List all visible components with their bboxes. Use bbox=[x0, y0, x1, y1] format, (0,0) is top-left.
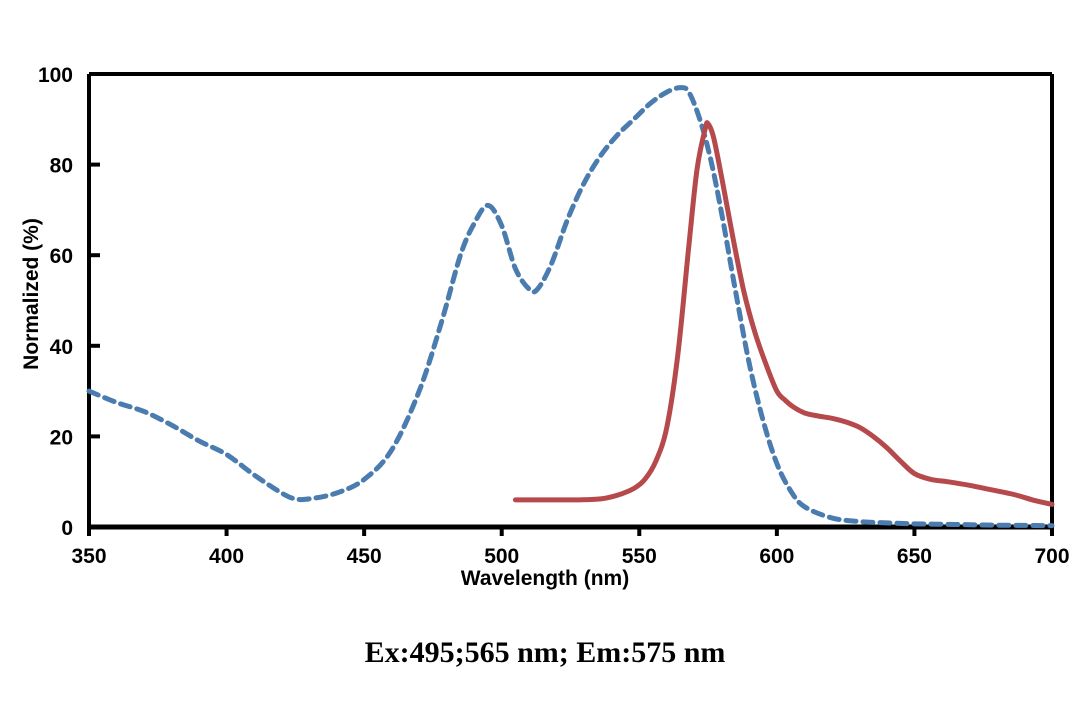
svg-text:60: 60 bbox=[50, 245, 73, 268]
svg-text:450: 450 bbox=[347, 545, 382, 568]
y-axis-title: Normalized (%) bbox=[20, 184, 44, 404]
figure-caption: Ex:495;565 nm; Em:575 nm bbox=[0, 636, 1090, 670]
svg-text:0: 0 bbox=[61, 517, 73, 540]
svg-text:400: 400 bbox=[209, 545, 244, 568]
svg-text:80: 80 bbox=[50, 155, 73, 178]
svg-text:350: 350 bbox=[71, 545, 106, 568]
spectra-plot: 020406080100350400450500550600650700 bbox=[0, 0, 1090, 620]
x-axis-title: Wavelength (nm) bbox=[0, 567, 1090, 591]
svg-text:20: 20 bbox=[50, 426, 73, 449]
svg-text:100: 100 bbox=[38, 64, 73, 87]
svg-text:40: 40 bbox=[50, 336, 73, 359]
svg-text:500: 500 bbox=[484, 545, 519, 568]
figure-root: PE Excitation and Emission Spectra 02040… bbox=[0, 0, 1090, 704]
svg-text:600: 600 bbox=[759, 545, 794, 568]
svg-text:650: 650 bbox=[897, 545, 932, 568]
svg-text:550: 550 bbox=[622, 545, 657, 568]
svg-text:700: 700 bbox=[1034, 545, 1069, 568]
plot-area: 020406080100350400450500550600650700 Wav… bbox=[0, 0, 1090, 620]
